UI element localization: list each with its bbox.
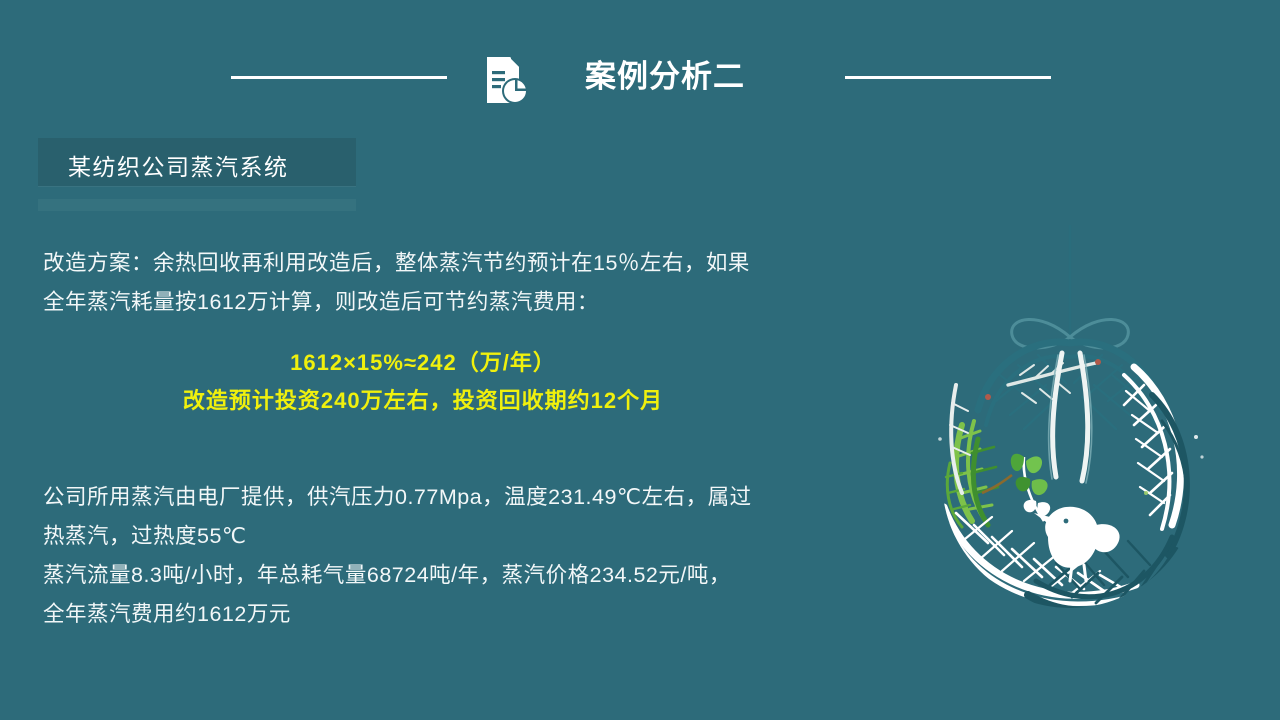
intro-line: 改造方案：余热回收再利用改造后，整体蒸汽节约预计在15％左右，如果 <box>43 244 863 283</box>
intro-paragraph: 改造方案：余热回收再利用改造后，整体蒸汽节约预计在15％左右，如果 全年蒸汽耗量… <box>43 244 863 322</box>
olive-branch <box>1011 454 1050 521</box>
page-title: 案例分析二 <box>585 57 825 97</box>
intro-line: 全年蒸汽耗量按1612万计算，则改造后可节约蒸汽费用： <box>43 283 863 322</box>
header-rule-right <box>845 76 1051 79</box>
spec-line: 全年蒸汽费用约1612万元 <box>43 595 863 634</box>
formula-line: 改造预计投资240万左右，投资回收期约12个月 <box>43 382 803 420</box>
header-rule-left <box>231 76 447 79</box>
document-chart-icon <box>479 54 531 106</box>
slide-header: 案例分析二 <box>0 0 1280 130</box>
formula-line: 1612×15%≈242（万/年） <box>43 344 803 382</box>
section-banner-underbar <box>38 199 356 211</box>
hanging-wreath-illustration <box>900 225 1240 635</box>
section-banner-label: 某纺织公司蒸汽系统 <box>68 148 289 182</box>
spec-line: 热蒸汽，过热度55℃ <box>43 517 863 556</box>
spec-line: 公司所用蒸汽由电厂提供，供汽压力0.77Mpa，温度231.49℃左右，属过 <box>43 478 863 517</box>
spec-line: 蒸汽流量8.3吨/小时，年总耗气量68724吨/年，蒸汽价格234.52元/吨， <box>43 556 863 595</box>
slide-content: 改造方案：余热回收再利用改造后，整体蒸汽节约预计在15％左右，如果 全年蒸汽耗量… <box>43 244 863 634</box>
spec-paragraph: 公司所用蒸汽由电厂提供，供汽压力0.77Mpa，温度231.49℃左右，属过 热… <box>43 478 863 634</box>
section-banner: 某纺织公司蒸汽系统 <box>38 138 356 186</box>
formula-block: 1612×15%≈242（万/年） 改造预计投资240万左右，投资回收期约12个… <box>43 344 803 420</box>
